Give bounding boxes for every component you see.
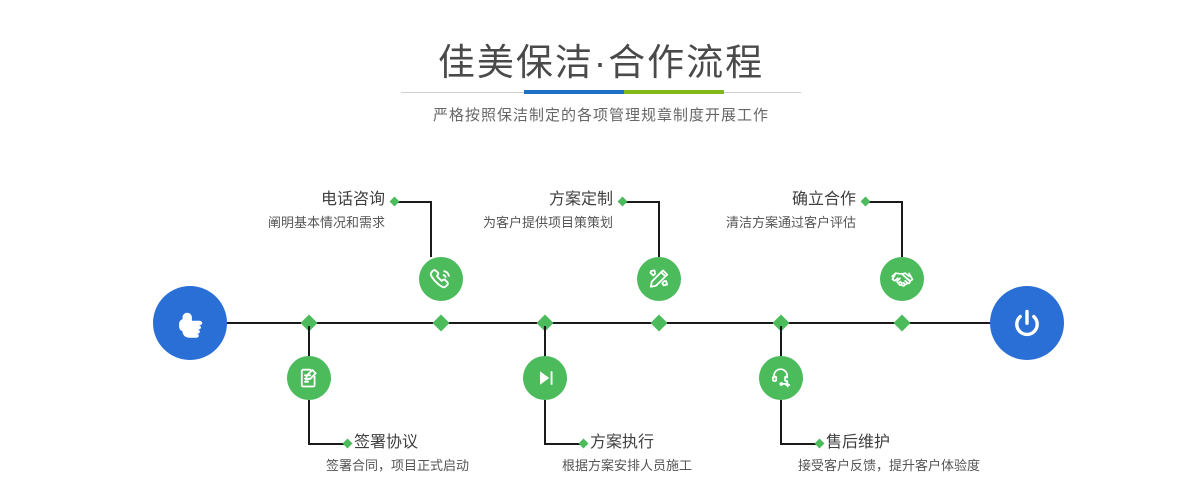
- page-title: 佳美保洁·合作流程: [0, 40, 1202, 86]
- timeline-marker-5: [894, 315, 911, 332]
- step-label-title-4: 方案执行: [590, 433, 810, 453]
- title-divider: [401, 92, 801, 93]
- label-dot-6: [815, 439, 825, 449]
- step-node-6[interactable]: [759, 356, 803, 400]
- pointing-hand-icon: [170, 303, 210, 343]
- phone-ring-icon: [428, 266, 454, 292]
- divider-segment-blue: [524, 90, 624, 94]
- label-connector-h-2: [308, 443, 346, 445]
- label-connector-h-6: [780, 443, 818, 445]
- pencil-ruler-icon: [646, 266, 672, 292]
- step-label-title-2: 签署协议: [354, 433, 574, 453]
- label-connector-v-4: [544, 400, 546, 444]
- handshake-icon: [889, 266, 916, 293]
- step-label-desc-3: 为客户提供项目策策划: [388, 214, 613, 232]
- step-label-title-5: 确立合作: [661, 190, 856, 210]
- end-endpoint: [990, 286, 1064, 360]
- headset-support-icon: [768, 365, 794, 391]
- timeline-marker-3: [651, 315, 668, 332]
- step-label-desc-1: 阐明基本情况和需求: [160, 214, 385, 232]
- step-label-desc-5: 清洁方案通过客户评估: [631, 214, 856, 232]
- step-node-3[interactable]: [637, 257, 681, 301]
- step-node-4[interactable]: [523, 356, 567, 400]
- timeline: 电话咨询 阐明基本情况和需求 签署协议 签署合同，项目正: [0, 150, 1202, 502]
- label-connector-v-6: [780, 400, 782, 444]
- step-label-title-3: 方案定制: [418, 190, 613, 210]
- play-skip-icon: [532, 365, 558, 391]
- step-node-5[interactable]: [880, 257, 924, 301]
- header: 佳美保洁·合作流程 严格按照保洁制定的各项管理规章制度开展工作: [0, 0, 1202, 150]
- step-label-desc-2: 签署合同，项目正式启动: [326, 457, 576, 475]
- step-label-desc-6: 接受客户反馈，提升客户体验度: [798, 457, 1078, 475]
- label-dot-1: [390, 197, 400, 207]
- document-pencil-icon: [296, 365, 322, 391]
- label-connector-h-4: [544, 443, 582, 445]
- step-label-title-6: 售后维护: [826, 433, 1046, 453]
- label-dot-4: [579, 439, 589, 449]
- start-endpoint: [153, 286, 227, 360]
- step-label-desc-4: 根据方案安排人员施工: [562, 457, 812, 475]
- page-subtitle: 严格按照保洁制定的各项管理规章制度开展工作: [0, 105, 1202, 127]
- timeline-marker-1: [433, 315, 450, 332]
- timeline-axis: [160, 322, 1044, 324]
- label-connector-h-5: [865, 201, 903, 203]
- step-node-1[interactable]: [419, 257, 463, 301]
- label-connector-v-5: [901, 201, 903, 257]
- label-dot-3: [618, 197, 628, 207]
- label-connector-h-3: [622, 201, 660, 203]
- step-node-2[interactable]: [287, 356, 331, 400]
- divider-segment-green: [624, 90, 724, 94]
- power-icon: [1007, 303, 1047, 343]
- process-flow-infographic: 佳美保洁·合作流程 严格按照保洁制定的各项管理规章制度开展工作: [0, 0, 1202, 502]
- label-dot-5: [861, 197, 871, 207]
- label-dot-2: [343, 439, 353, 449]
- step-label-title-1: 电话咨询: [190, 190, 385, 210]
- label-connector-v-2: [308, 400, 310, 444]
